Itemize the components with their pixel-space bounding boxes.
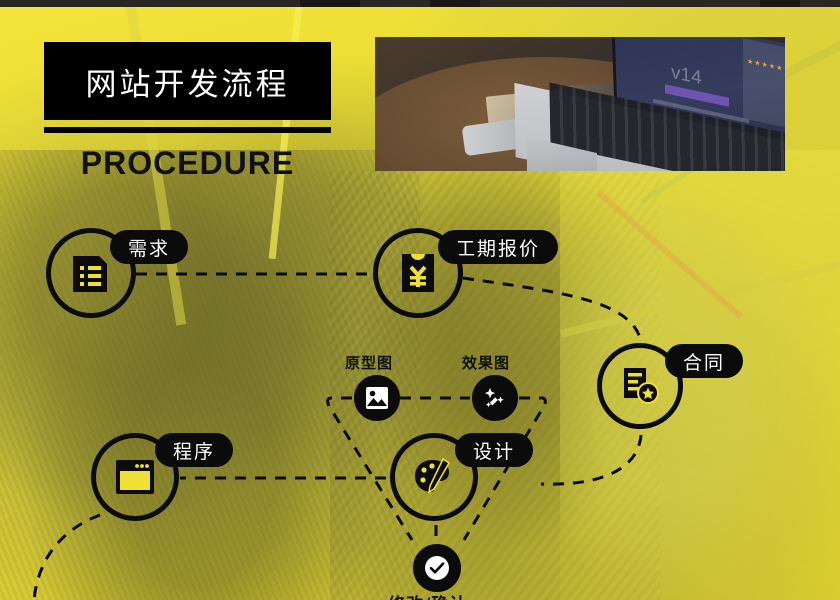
node-circle-rendering[interactable] bbox=[472, 375, 518, 421]
palette-brush-icon bbox=[412, 455, 456, 499]
node-label-prototype: 原型图 bbox=[345, 352, 393, 373]
node-circle-prototype[interactable] bbox=[354, 375, 400, 421]
connector-quote-contract bbox=[463, 278, 640, 338]
connector-contract-design bbox=[541, 435, 641, 484]
check-circle-icon bbox=[423, 554, 451, 582]
document-list-icon bbox=[69, 250, 113, 296]
image-icon bbox=[364, 385, 390, 411]
node-circle-contract[interactable] bbox=[597, 343, 683, 429]
node-circle-program[interactable] bbox=[91, 433, 179, 521]
browser-window-icon bbox=[112, 456, 158, 498]
procedure-infographic: 网站开发流程 PROCEDURE v14 ★★★★★ bbox=[0, 0, 840, 600]
node-circle-quote[interactable] bbox=[373, 228, 463, 318]
connector-program-loop bbox=[34, 515, 100, 600]
sparkle-wand-icon bbox=[482, 385, 508, 411]
node-label-confirm: 修改/确认 bbox=[388, 590, 467, 600]
node-circle-design[interactable] bbox=[390, 433, 478, 521]
node-label-rendering: 效果图 bbox=[462, 352, 510, 373]
certificate-icon bbox=[619, 364, 661, 408]
yen-clipboard-icon bbox=[398, 250, 438, 296]
node-circle-confirm[interactable] bbox=[413, 544, 461, 592]
node-circle-requirement[interactable] bbox=[46, 228, 136, 318]
